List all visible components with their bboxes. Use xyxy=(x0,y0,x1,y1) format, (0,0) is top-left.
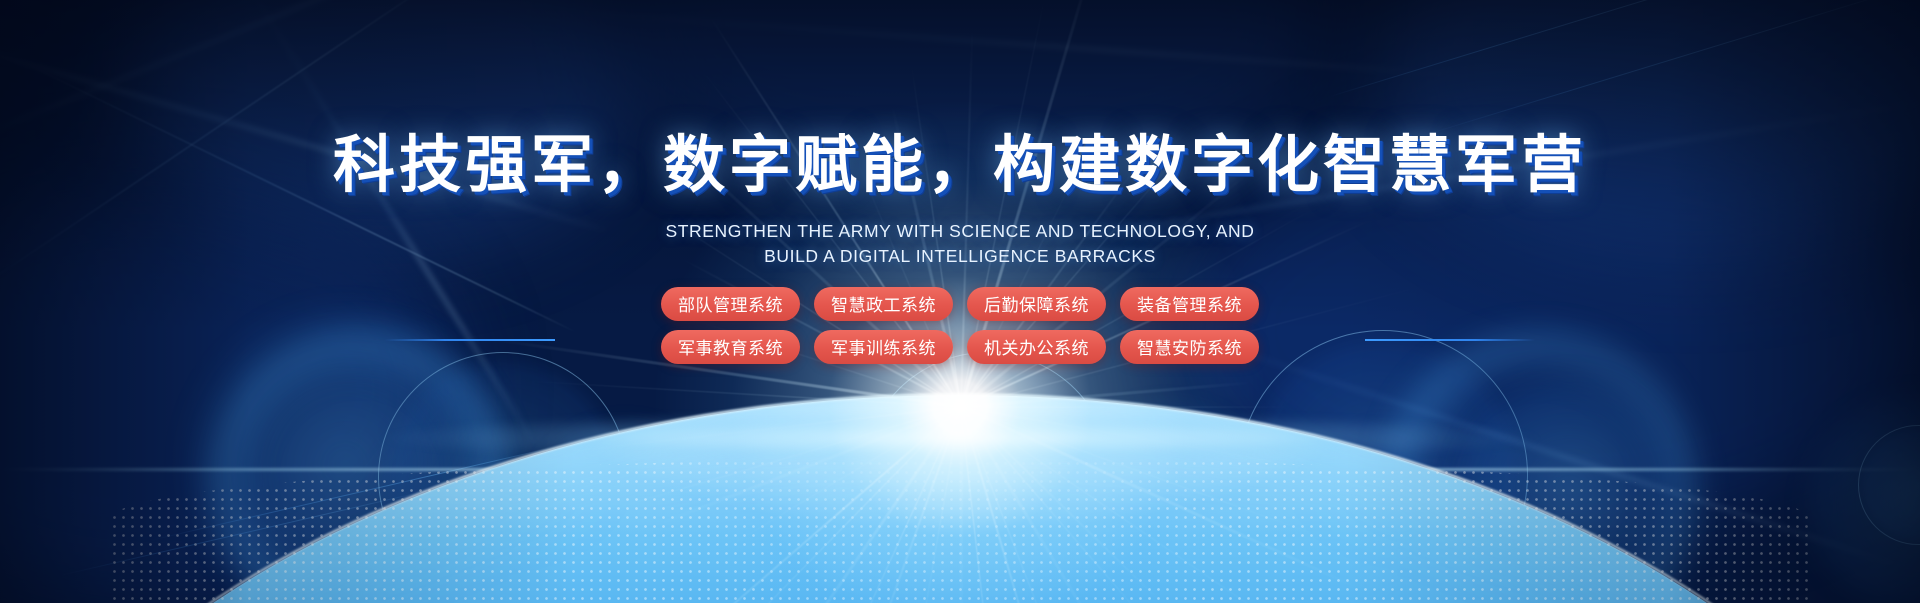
pill-smart-political-work-system[interactable]: 智慧政工系统 xyxy=(814,287,953,321)
banner-headline: 科技强军，数字赋能，构建数字化智慧军营 xyxy=(333,135,1587,197)
pill-military-education-system[interactable]: 军事教育系统 xyxy=(661,330,800,364)
system-pill-row-1: 部队管理系统 智慧政工系统 后勤保障系统 装备管理系统 xyxy=(661,287,1259,321)
divider-rule-left xyxy=(385,339,555,341)
hero-banner: 科技强军，数字赋能，构建数字化智慧军营 STRENGTHEN THE ARMY … xyxy=(0,0,1920,603)
pill-troop-management-system[interactable]: 部队管理系统 xyxy=(661,287,800,321)
subtitle-line-2: BUILD A DIGITAL INTELLIGENCE BARRACKS xyxy=(665,244,1254,269)
subtitle-line-1: STRENGTHEN THE ARMY WITH SCIENCE AND TEC… xyxy=(665,219,1254,244)
pill-smart-security-system[interactable]: 智慧安防系统 xyxy=(1120,330,1259,364)
system-pill-row-2: 军事教育系统 军事训练系统 机关办公系统 智慧安防系统 xyxy=(661,330,1259,364)
pill-military-training-system[interactable]: 军事训练系统 xyxy=(814,330,953,364)
pill-logistics-support-system[interactable]: 后勤保障系统 xyxy=(967,287,1106,321)
system-pill-group: 部队管理系统 智慧政工系统 后勤保障系统 装备管理系统 军事教育系统 军事训练系… xyxy=(0,287,1920,364)
pill-equipment-management-system[interactable]: 装备管理系统 xyxy=(1120,287,1259,321)
pill-office-administration-system[interactable]: 机关办公系统 xyxy=(967,330,1106,364)
divider-rule-right xyxy=(1365,339,1535,341)
banner-subtitle: STRENGTHEN THE ARMY WITH SCIENCE AND TEC… xyxy=(665,219,1254,269)
banner-content: 科技强军，数字赋能，构建数字化智慧军营 STRENGTHEN THE ARMY … xyxy=(0,0,1920,603)
